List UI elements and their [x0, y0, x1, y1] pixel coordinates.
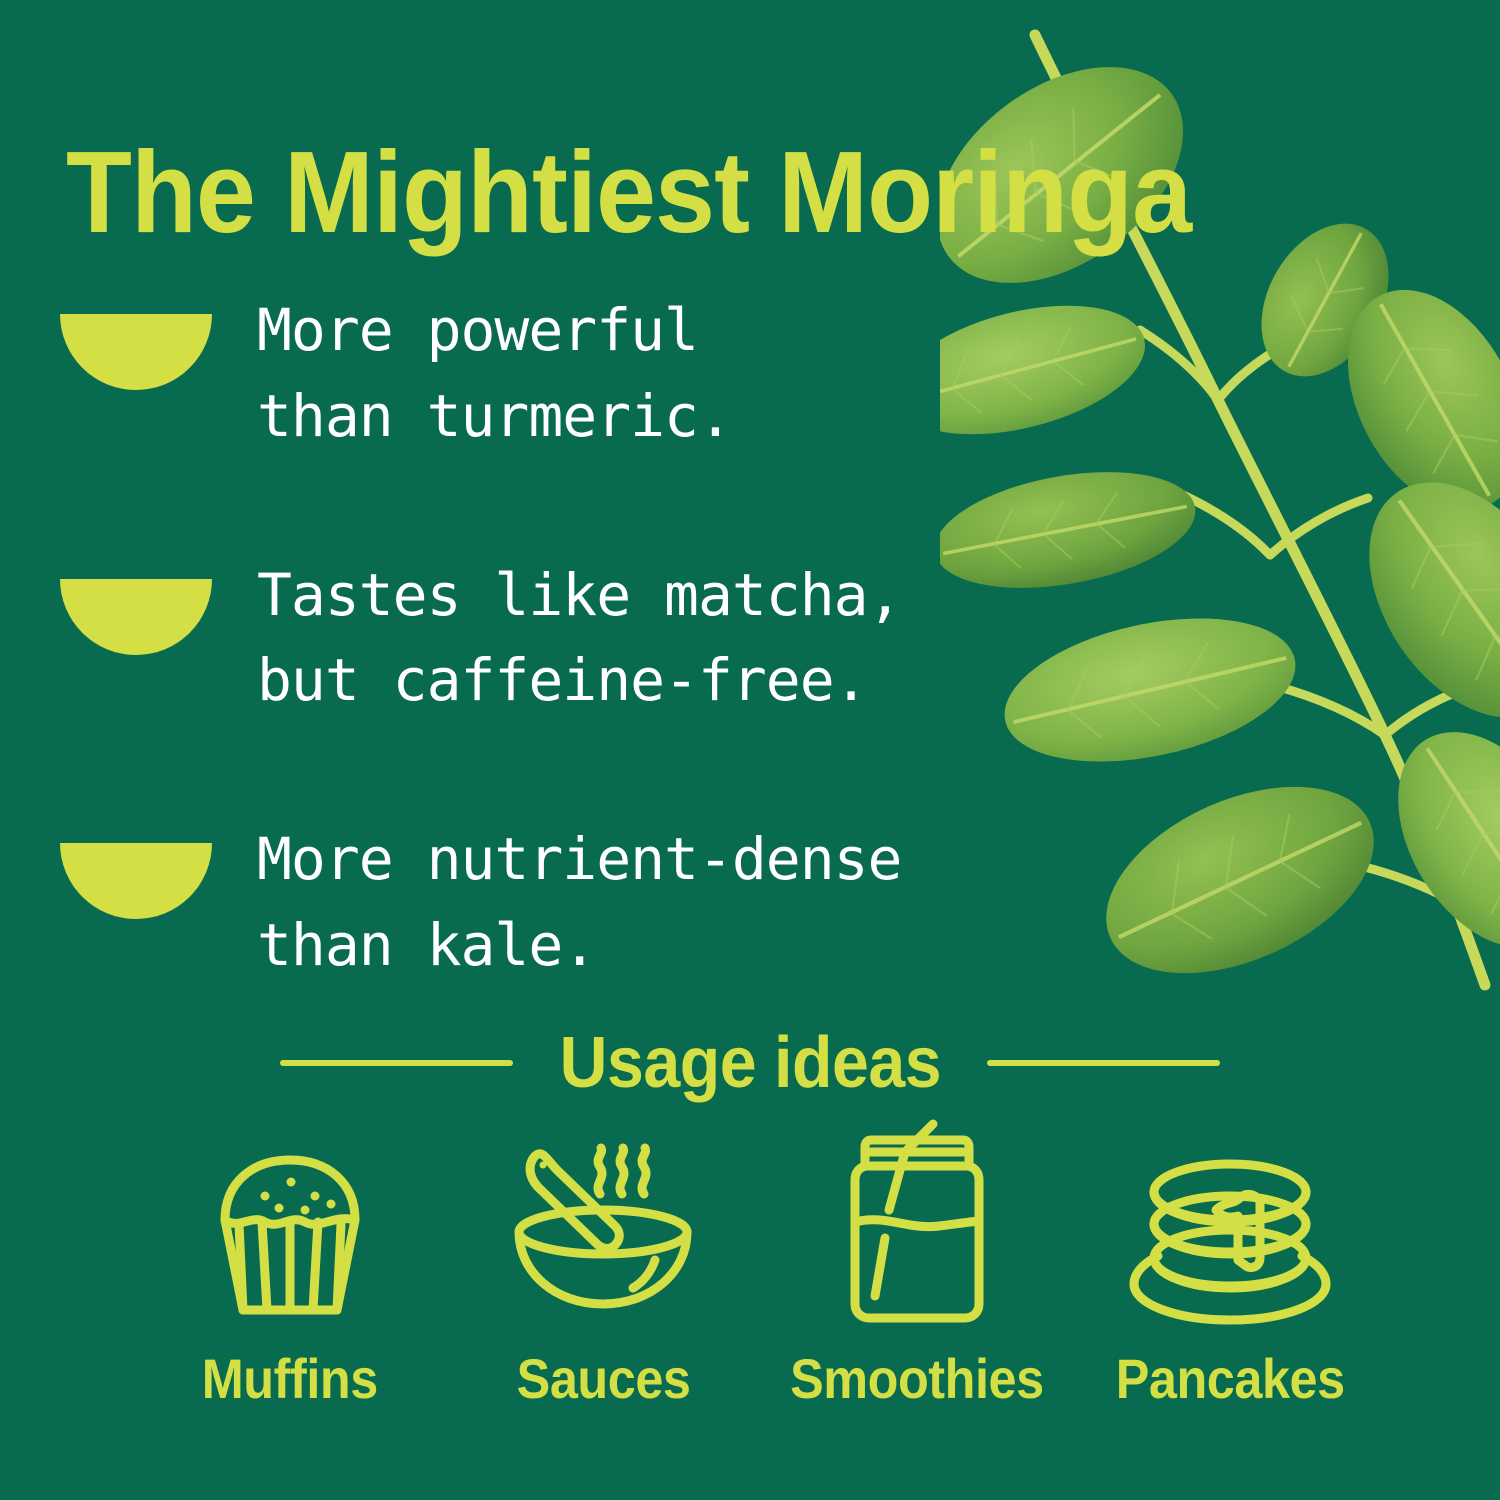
benefit-list: More powerful than turmeric. Tastes like…	[60, 288, 1060, 1082]
pancakes-icon	[1128, 1120, 1332, 1330]
usage-ideas-heading: Usage ideas	[0, 1022, 1500, 1104]
usage-item-label: Muffins	[202, 1346, 378, 1411]
page-title: The Mightiest Moringa	[66, 134, 1191, 250]
divider-left	[280, 1060, 513, 1066]
usage-item-sauces: Sauces	[463, 1120, 743, 1411]
half-circle-bullet-icon	[60, 579, 212, 655]
half-circle-bullet-icon	[60, 843, 212, 919]
divider-right	[987, 1060, 1220, 1066]
mason-jar-icon	[827, 1120, 1007, 1330]
usage-item-pancakes: Pancakes	[1090, 1120, 1370, 1411]
usage-item-label: Smoothies	[790, 1346, 1044, 1411]
usage-ideas-list: Muffins Sauces	[150, 1120, 1370, 1411]
list-item-label: More nutrient-dense than kale.	[257, 817, 1060, 989]
usage-item-smoothies: Smoothies	[777, 1120, 1057, 1411]
usage-ideas-title: Usage ideas	[559, 1022, 941, 1104]
list-item-label: Tastes like matcha, but caffeine-free.	[257, 553, 1060, 725]
usage-item-label: Sauces	[516, 1346, 690, 1411]
list-item: Tastes like matcha, but caffeine-free.	[60, 553, 1060, 725]
half-circle-bullet-icon	[60, 314, 212, 390]
list-item: More nutrient-dense than kale.	[60, 817, 1060, 989]
list-item-label: More powerful than turmeric.	[257, 288, 1060, 460]
bowl-spoon-icon	[505, 1120, 701, 1330]
list-item: More powerful than turmeric.	[60, 288, 1060, 460]
usage-item-label: Pancakes	[1115, 1346, 1344, 1411]
poster-canvas: The Mightiest Moringa More powerful than…	[0, 0, 1500, 1500]
muffin-icon	[195, 1120, 385, 1330]
usage-item-muffins: Muffins	[150, 1120, 430, 1411]
